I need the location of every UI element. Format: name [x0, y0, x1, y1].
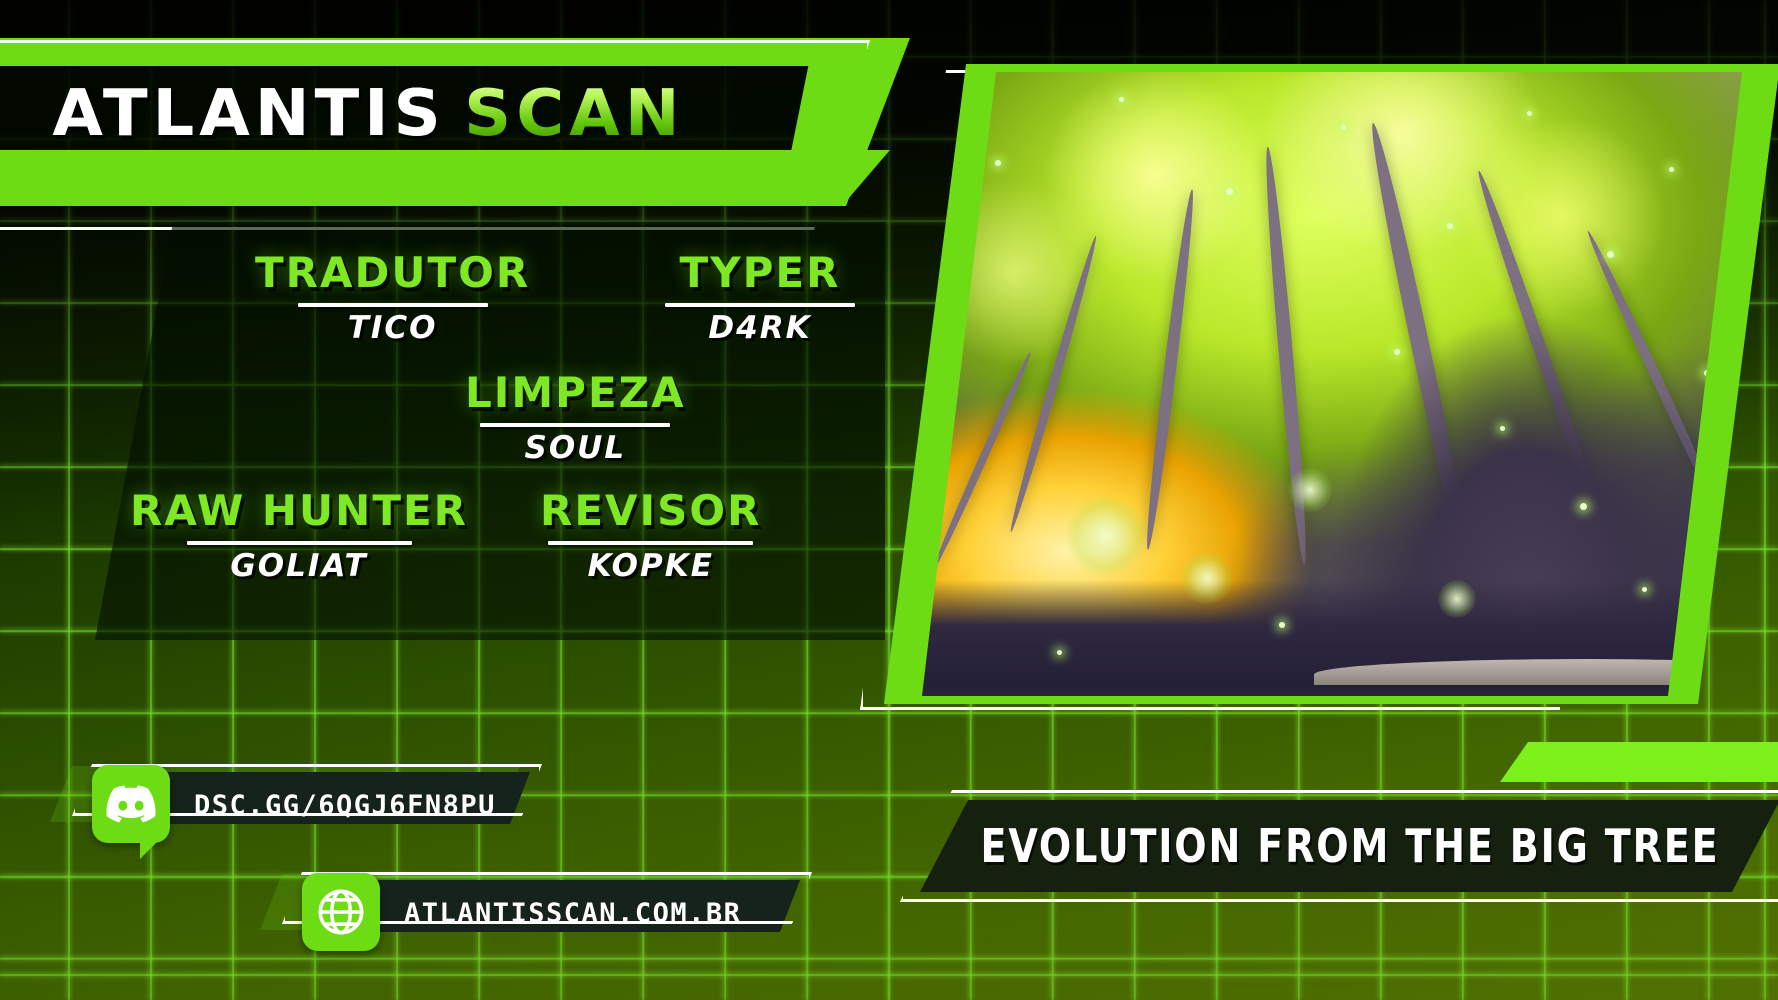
- credit-role: RAW HUNTER: [130, 490, 468, 532]
- artwork-spark: [1607, 251, 1614, 258]
- credit-divider: [548, 541, 753, 545]
- logo-text-scan: SCAN: [464, 77, 684, 151]
- cover-artwork-panel: [860, 46, 1778, 746]
- credit-entry-raw-hunter: RAW HUNTER GOLIAT: [130, 490, 468, 582]
- credit-role: TYPER: [680, 252, 841, 294]
- globe-icon[interactable]: [302, 873, 380, 951]
- artwork-spark: [1394, 349, 1400, 355]
- artwork-spark: [1642, 587, 1647, 592]
- artwork-orb: [1181, 552, 1233, 604]
- credit-name: D4RK: [708, 313, 811, 344]
- credit-entry-typer: TYPER D4RK: [665, 252, 855, 344]
- credit-role: LIMPEZA: [465, 372, 686, 414]
- credit-role: REVISOR: [540, 490, 761, 532]
- credit-divider: [480, 423, 670, 427]
- bottom-right-accent-strip: [1500, 742, 1778, 782]
- discord-badge[interactable]: DSC.GG/6QGJ6FN8PU: [90, 760, 560, 850]
- credits-list: TRADUTOR TICO TYPER D4RK LIMPEZA SOUL RA…: [95, 222, 885, 640]
- credit-divider: [665, 303, 855, 307]
- credit-entry-limpeza: LIMPEZA SOUL: [465, 372, 686, 464]
- credit-name: KOPKE: [588, 551, 714, 582]
- credit-name: GOLIAT: [230, 551, 367, 582]
- artwork-image: [922, 72, 1742, 696]
- discord-link-text[interactable]: DSC.GG/6QGJ6FN8PU: [194, 790, 496, 821]
- artwork-spark: [1580, 503, 1587, 510]
- artwork-orb: [1066, 496, 1146, 576]
- credit-name: SOUL: [525, 433, 627, 464]
- credit-role: TRADUTOR: [255, 252, 530, 294]
- credit-divider: [298, 303, 488, 307]
- logo-text-atlantis: ATLANTIS: [52, 77, 445, 151]
- site-logo: ATLANTIS SCAN: [52, 72, 827, 156]
- artwork-spark: [1669, 167, 1674, 172]
- artwork-orb: [1438, 580, 1476, 618]
- header-banner: ATLANTIS SCAN: [0, 28, 920, 218]
- website-badge[interactable]: ATLANTISSCAN.COM.BR: [300, 868, 830, 958]
- credit-name: TICO: [348, 313, 438, 344]
- credit-entry-revisor: REVISOR KOPKE: [540, 490, 761, 582]
- artwork-spark: [1226, 188, 1233, 195]
- credits-page: ATLANTIS SCAN TRADUTOR TICO TYPER D4RK L…: [0, 0, 1778, 1000]
- discord-icon[interactable]: [92, 765, 170, 843]
- credit-entry-tradutor: TRADUTOR TICO: [255, 252, 530, 344]
- artwork-spark: [1279, 622, 1285, 628]
- artwork-orb: [1288, 468, 1332, 512]
- website-link-text[interactable]: ATLANTISSCAN.COM.BR: [404, 898, 741, 929]
- credit-divider: [187, 541, 412, 545]
- chapter-title: EVOLUTION FROM THE BIG TREE: [954, 800, 1745, 892]
